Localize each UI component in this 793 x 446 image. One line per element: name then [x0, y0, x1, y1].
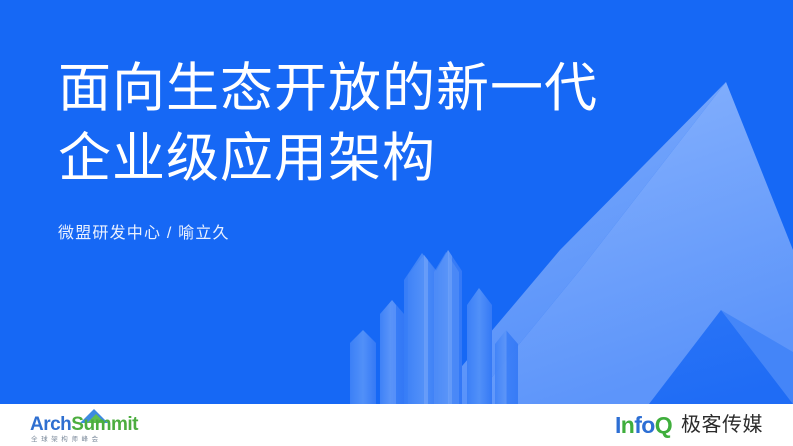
building-8 [495, 330, 518, 404]
title-block: 面向生态开放的新一代 企业级应用架构 微盟研发中心 / 喻立久 [58, 54, 758, 246]
infoq-wordmark: InfoQ [615, 412, 672, 438]
archsummit-tagline: 全球架构师峰会 [31, 433, 102, 443]
slide-footer: ArchSummit 全球架构师峰会 InfoQ 极客传媒 [0, 404, 793, 446]
infoq-cn-label: 极客传媒 [681, 413, 763, 437]
building-edge-2 [448, 250, 452, 404]
building-6-highlight [434, 252, 459, 404]
presentation-slide: 面向生态开放的新一代 企业级应用架构 微盟研发中心 / 喻立久 ArchSumm… [0, 0, 793, 446]
building-edge-1 [424, 255, 428, 404]
slide-title-line-1: 面向生态开放的新一代 [58, 54, 758, 124]
infoq-letter-q: Q [655, 412, 672, 438]
archsummit-wordmark: ArchSummit [30, 415, 138, 435]
archsummit-summit-text: Summit [71, 414, 138, 435]
archsummit-logo: ArchSummit 全球架构师峰会 [30, 410, 210, 442]
building-7 [467, 288, 492, 404]
archsummit-arch-text: Arch [30, 414, 71, 435]
building-1 [350, 330, 376, 404]
building-edge-3 [392, 300, 396, 404]
infoq-letter-o: o [641, 412, 654, 438]
slide-hero-background: 面向生态开放的新一代 企业级应用架构 微盟研发中心 / 喻立久 [0, 0, 793, 404]
slide-subtitle: 微盟研发中心 / 喻立久 [58, 222, 758, 246]
slide-title-line-2: 企业级应用架构 [58, 124, 758, 194]
infoq-letter-n: n [621, 412, 634, 438]
infoq-logo: InfoQ 极客传媒 [615, 411, 763, 439]
